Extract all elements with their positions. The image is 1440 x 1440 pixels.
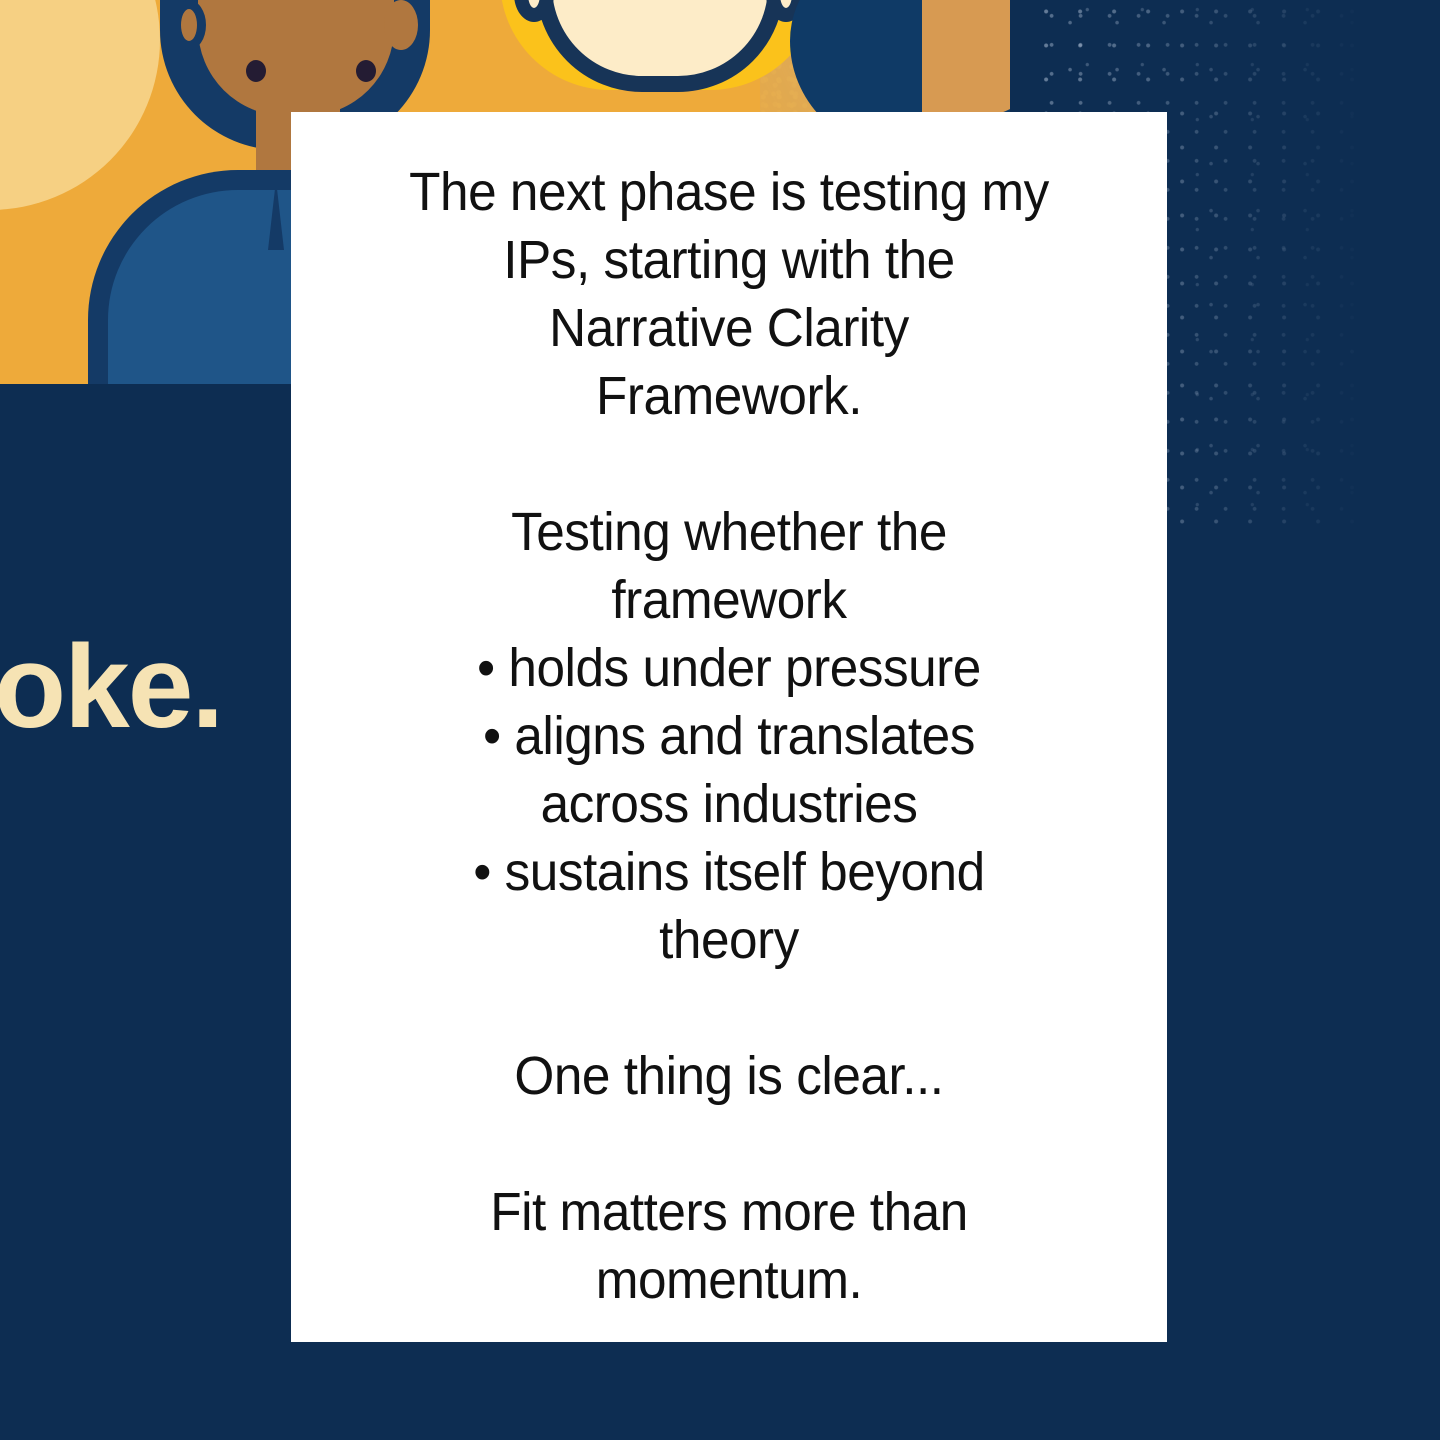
bullet-item-line: • aligns and translates [355,702,1104,770]
figure-left-eye-right [356,60,376,82]
bullet-item-line: • sustains itself beyond [355,838,1104,906]
text-line: Testing whether the [355,498,1104,566]
bullet-item-line: across industries [355,770,1104,838]
paragraph-spacer [355,1110,1104,1178]
text-line: One thing is clear... [355,1042,1104,1110]
bullet-item-line: theory [355,906,1104,974]
quote-card-text: The next phase is testing my IPs, starti… [355,158,1104,1314]
paragraph-spacer [355,974,1104,1042]
list-item: • holds under pressure [355,634,1104,702]
paragraph-testing: Testing whether the framework [355,498,1104,634]
figure-left-ear-right [384,0,418,50]
paragraph-intro: The next phase is testing my IPs, starti… [355,158,1104,430]
background-partial-word: oke. [0,628,222,746]
text-line: Narrative Clarity [355,294,1104,362]
paragraph-spacer [355,430,1104,498]
bullet-item-line: • holds under pressure [355,634,1104,702]
paragraph-clear: One thing is clear... [355,1042,1104,1110]
text-line: momentum. [355,1246,1104,1314]
figure-left-eye-left [246,60,266,82]
list-item: • aligns and translates across industrie… [355,702,1104,838]
bullet-list: • holds under pressure • aligns and tran… [355,634,1104,974]
text-line: Fit matters more than [355,1178,1104,1246]
list-item: • sustains itself beyond theory [355,838,1104,974]
text-line: The next phase is testing my [355,158,1104,226]
text-line: framework [355,566,1104,634]
text-line: Framework. [355,362,1104,430]
text-line: IPs, starting with the [355,226,1104,294]
slide-canvas: oke. The next phase is testing my IPs, s… [0,0,1440,1440]
figure-left-ear-left [172,0,206,50]
paragraph-closing: Fit matters more than momentum. [355,1178,1104,1314]
quote-card: The next phase is testing my IPs, starti… [291,112,1167,1342]
